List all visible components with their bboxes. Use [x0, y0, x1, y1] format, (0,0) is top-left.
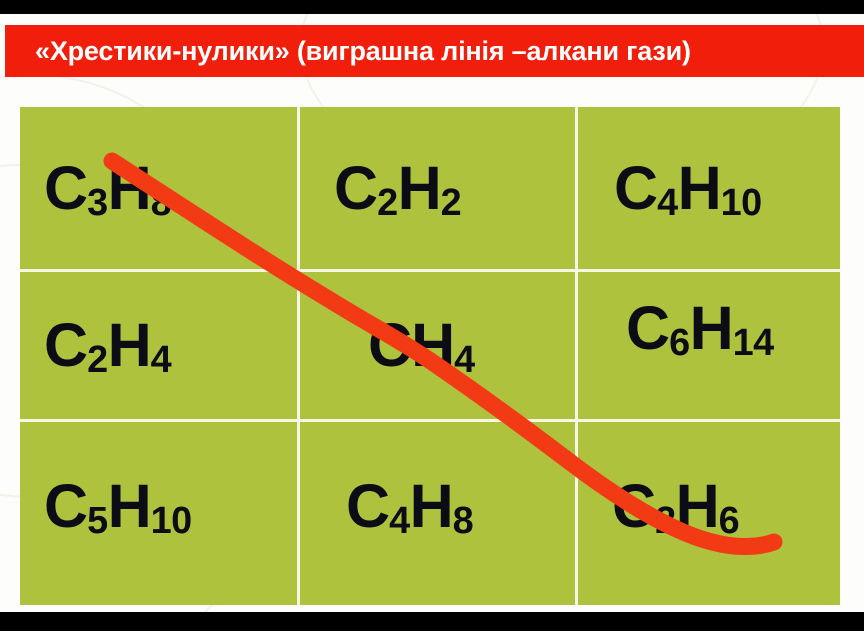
grid-cell-r2c2[interactable]: CH4 — [300, 272, 578, 422]
formula-label: C2H4 — [36, 315, 171, 376]
formula-label: C6H14 — [594, 298, 774, 359]
grid-cell-r1c1[interactable]: C3H8 — [20, 107, 300, 272]
grid-cell-r2c1[interactable]: C2H4 — [20, 272, 300, 422]
formula-label: C5H10 — [36, 476, 192, 537]
formula-label: C2H2 — [316, 158, 461, 219]
grid-cell-r1c2[interactable]: C2H2 — [300, 107, 578, 272]
slide-canvas: «Хрестики-нулики» (виграшна лінія –алкан… — [0, 0, 864, 631]
slide-title: «Хрестики-нулики» (виграшна лінія –алкан… — [5, 36, 691, 67]
formula-label: C4H8 — [316, 476, 473, 537]
grid-cell-r3c1[interactable]: C5H10 — [20, 422, 300, 605]
grid-cell-r1c3[interactable]: C4H10 — [578, 107, 840, 272]
formula-label: C4H10 — [594, 158, 762, 219]
grid-cell-r3c3[interactable]: C2H6 — [578, 422, 840, 605]
formula-label: CH4 — [316, 315, 475, 376]
formula-label: C2H6 — [594, 476, 739, 537]
letterbox-bottom — [0, 612, 864, 631]
tic-tac-toe-grid: C3H8 C2H2 C4H10 C2H4 CH4 C6H14 C5H10 C4H… — [20, 107, 840, 605]
letterbox-top — [0, 0, 864, 14]
title-banner: «Хрестики-нулики» (виграшна лінія –алкан… — [5, 25, 864, 77]
grid-cell-r2c3[interactable]: C6H14 — [578, 272, 840, 422]
grid-cell-r3c2[interactable]: C4H8 — [300, 422, 578, 605]
formula-label: C3H8 — [36, 158, 171, 219]
